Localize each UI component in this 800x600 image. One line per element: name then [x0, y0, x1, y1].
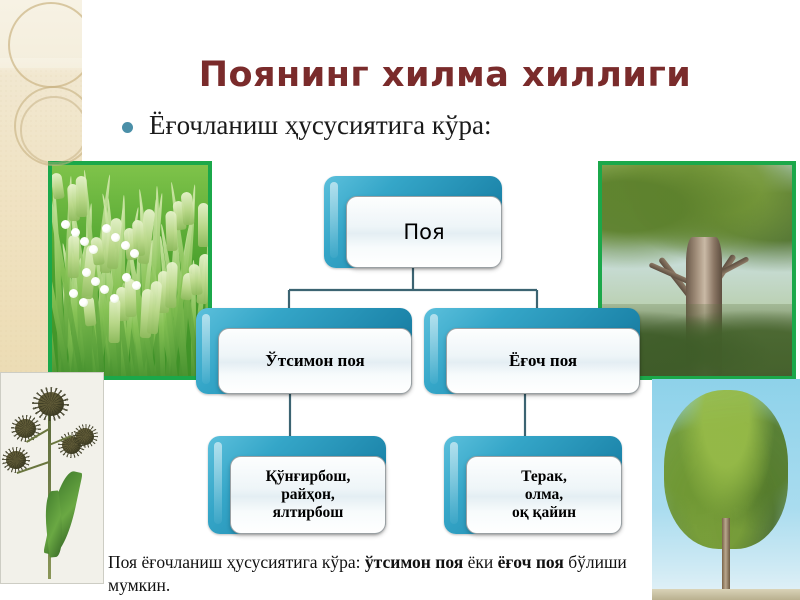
node-label: Терак, олма, оқ қайин: [512, 468, 576, 523]
node-face: Қўнғирбош, райҳон, ялтирбош: [230, 456, 386, 534]
slide-canvas: Поянинг хилма хиллиги Ёғочланиш ҳусусият…: [0, 0, 800, 600]
node-face: Ўтсимон поя: [218, 328, 412, 394]
caption-part-2: ёки: [463, 552, 497, 572]
chart-node-herbaceous-stem[interactable]: Ўтсимон поя: [196, 308, 412, 394]
node-label: Ўтсимон поя: [265, 351, 364, 371]
node-face: Ёғоч поя: [446, 328, 640, 394]
chart-node-woody-stem[interactable]: Ёғоч поя: [424, 308, 640, 394]
org-chart: Поя Ўтсимон поя Ёғоч поя Қўнғирбош, райҳ…: [0, 0, 800, 600]
node-label: Ёғоч поя: [509, 351, 577, 371]
caption-part-1: Поя ёғочланиш ҳусусиятига кўра:: [108, 552, 365, 572]
node-face: Терак, олма, оқ қайин: [466, 456, 622, 534]
node-label: Поя: [403, 220, 444, 245]
node-label: Қўнғирбош, райҳон, ялтирбош: [266, 468, 351, 523]
chart-node-root[interactable]: Поя: [324, 176, 502, 268]
chart-node-herbaceous-examples[interactable]: Қўнғирбош, райҳон, ялтирбош: [208, 436, 386, 534]
chart-connectors: [0, 0, 800, 600]
caption-text: Поя ёғочланиш ҳусусиятига кўра: ўтсимон …: [108, 551, 668, 597]
caption-bold-2: ёғоч поя: [498, 552, 564, 572]
node-face: Поя: [346, 196, 502, 268]
chart-node-woody-examples[interactable]: Терак, олма, оқ қайин: [444, 436, 622, 534]
caption-bold-1: ўтсимон поя: [365, 552, 463, 572]
decorative-circle-icon: [20, 96, 82, 164]
